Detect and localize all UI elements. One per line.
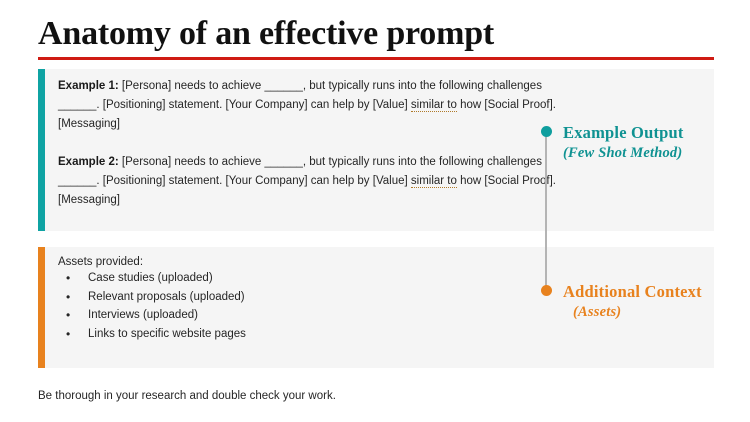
list-item: •Relevant proposals (uploaded) (58, 288, 246, 307)
list-item: •Case studies (uploaded) (58, 269, 246, 288)
callout-additional-context-subtitle: (Assets) (573, 302, 702, 323)
callout-example-output: Example Output (Few Shot Method) (563, 122, 684, 164)
callout-dot-example-output-icon (541, 126, 552, 137)
page-title: Anatomy of an effective prompt (38, 14, 494, 54)
list-item-label: Interviews (uploaded) (88, 309, 198, 321)
title-divider-rule (38, 57, 714, 60)
list-item-label: Case studies (uploaded) (88, 272, 213, 284)
bullet-icon: • (66, 325, 70, 344)
list-item: •Interviews (uploaded) (58, 306, 246, 325)
bullet-icon: • (66, 269, 70, 288)
bullet-icon: • (66, 306, 70, 325)
slide-canvas: Anatomy of an effective prompt Example 1… (0, 0, 750, 422)
assets-accent-bar (38, 247, 45, 368)
footer-note: Be thorough in your research and double … (38, 388, 336, 404)
bullet-icon: • (66, 288, 70, 307)
list-item-label: Relevant proposals (uploaded) (88, 291, 245, 303)
callout-connector-line (545, 131, 547, 290)
example-2-label: Example 2: (58, 156, 119, 168)
callout-additional-context: Additional Context (Assets) (563, 281, 702, 323)
list-item-label: Links to specific website pages (88, 328, 246, 340)
example-2-misspelled-text: similar to (411, 175, 457, 188)
callout-example-output-title: Example Output (563, 122, 684, 143)
example-2-paragraph: Example 2: [Persona] needs to achieve __… (58, 153, 558, 210)
list-item: •Links to specific website pages (58, 325, 246, 344)
callout-dot-additional-context-icon (541, 285, 552, 296)
example-1-misspelled-text: similar to (411, 99, 457, 112)
assets-list: •Case studies (uploaded) •Relevant propo… (58, 269, 246, 343)
callout-additional-context-title: Additional Context (563, 281, 702, 302)
examples-accent-bar (38, 69, 45, 231)
example-1-paragraph: Example 1: [Persona] needs to achieve __… (58, 77, 558, 134)
callout-example-output-subtitle: (Few Shot Method) (563, 143, 684, 164)
example-1-label: Example 1: (58, 80, 119, 92)
